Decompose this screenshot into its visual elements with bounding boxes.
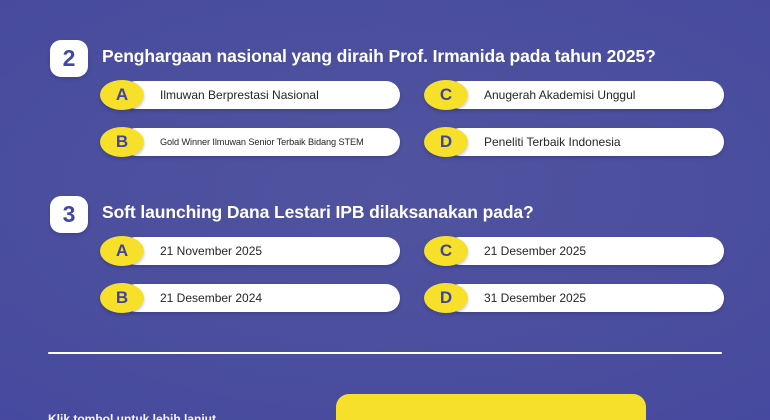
cta-button[interactable] — [336, 394, 646, 420]
option-letter-d: D — [424, 283, 468, 313]
option-text-b: 21 Desember 2024 — [160, 283, 262, 313]
options-grid-2: A Ilmuwan Berprestasi Nasional B Gold Wi… — [0, 80, 770, 158]
option-text-a: Ilmuwan Berprestasi Nasional — [160, 80, 319, 110]
option-letter-b: B — [100, 127, 144, 157]
option-letter-badge-c: C — [424, 80, 468, 110]
option-letter-badge-b: B — [100, 127, 144, 157]
question-block-2: 2 Penghargaan nasional yang diraih Prof.… — [0, 40, 770, 158]
section-divider — [48, 352, 722, 354]
options-grid-3: A 21 November 2025 B 21 Desember 2024 C … — [0, 236, 770, 314]
option-letter-badge-d: D — [424, 127, 468, 157]
question-header-2: 2 Penghargaan nasional yang diraih Prof.… — [0, 40, 770, 80]
option-text-b: Gold Winner Ilmuwan Senior Terbaik Bidan… — [160, 127, 364, 157]
question-number-3: 3 — [50, 196, 88, 233]
option-letter-c: C — [424, 80, 468, 110]
question-number-2: 2 — [50, 40, 88, 77]
option-letter-a: A — [100, 80, 144, 110]
quiz-slide: 2 Penghargaan nasional yang diraih Prof.… — [0, 0, 770, 420]
question-header-3: 3 Soft launching Dana Lestari IPB dilaks… — [0, 196, 770, 236]
option-letter-badge-c: C — [424, 236, 468, 266]
option-text-c: Anugerah Akademisi Unggul — [484, 80, 635, 110]
question-title-2: Penghargaan nasional yang diraih Prof. I… — [102, 46, 656, 67]
option-text-c: 21 Desember 2025 — [484, 236, 586, 266]
option-letter-a: A — [100, 236, 144, 266]
option-letter-b: B — [100, 283, 144, 313]
question-title-3: Soft launching Dana Lestari IPB dilaksan… — [102, 202, 534, 223]
option-text-d: 31 Desember 2025 — [484, 283, 586, 313]
option-letter-badge-b: B — [100, 283, 144, 313]
question-number-badge-2: 2 — [50, 40, 88, 77]
option-letter-c: C — [424, 236, 468, 266]
option-letter-badge-d: D — [424, 283, 468, 313]
option-letter-d: D — [424, 127, 468, 157]
question-number-badge-3: 3 — [50, 196, 88, 233]
option-letter-badge-a: A — [100, 236, 144, 266]
question-block-3: 3 Soft launching Dana Lestari IPB dilaks… — [0, 196, 770, 314]
footer-caption: Klik tombol untuk lebih lanjut — [48, 412, 216, 420]
option-letter-badge-a: A — [100, 80, 144, 110]
option-text-a: 21 November 2025 — [160, 236, 262, 266]
option-text-d: Peneliti Terbaik Indonesia — [484, 127, 621, 157]
